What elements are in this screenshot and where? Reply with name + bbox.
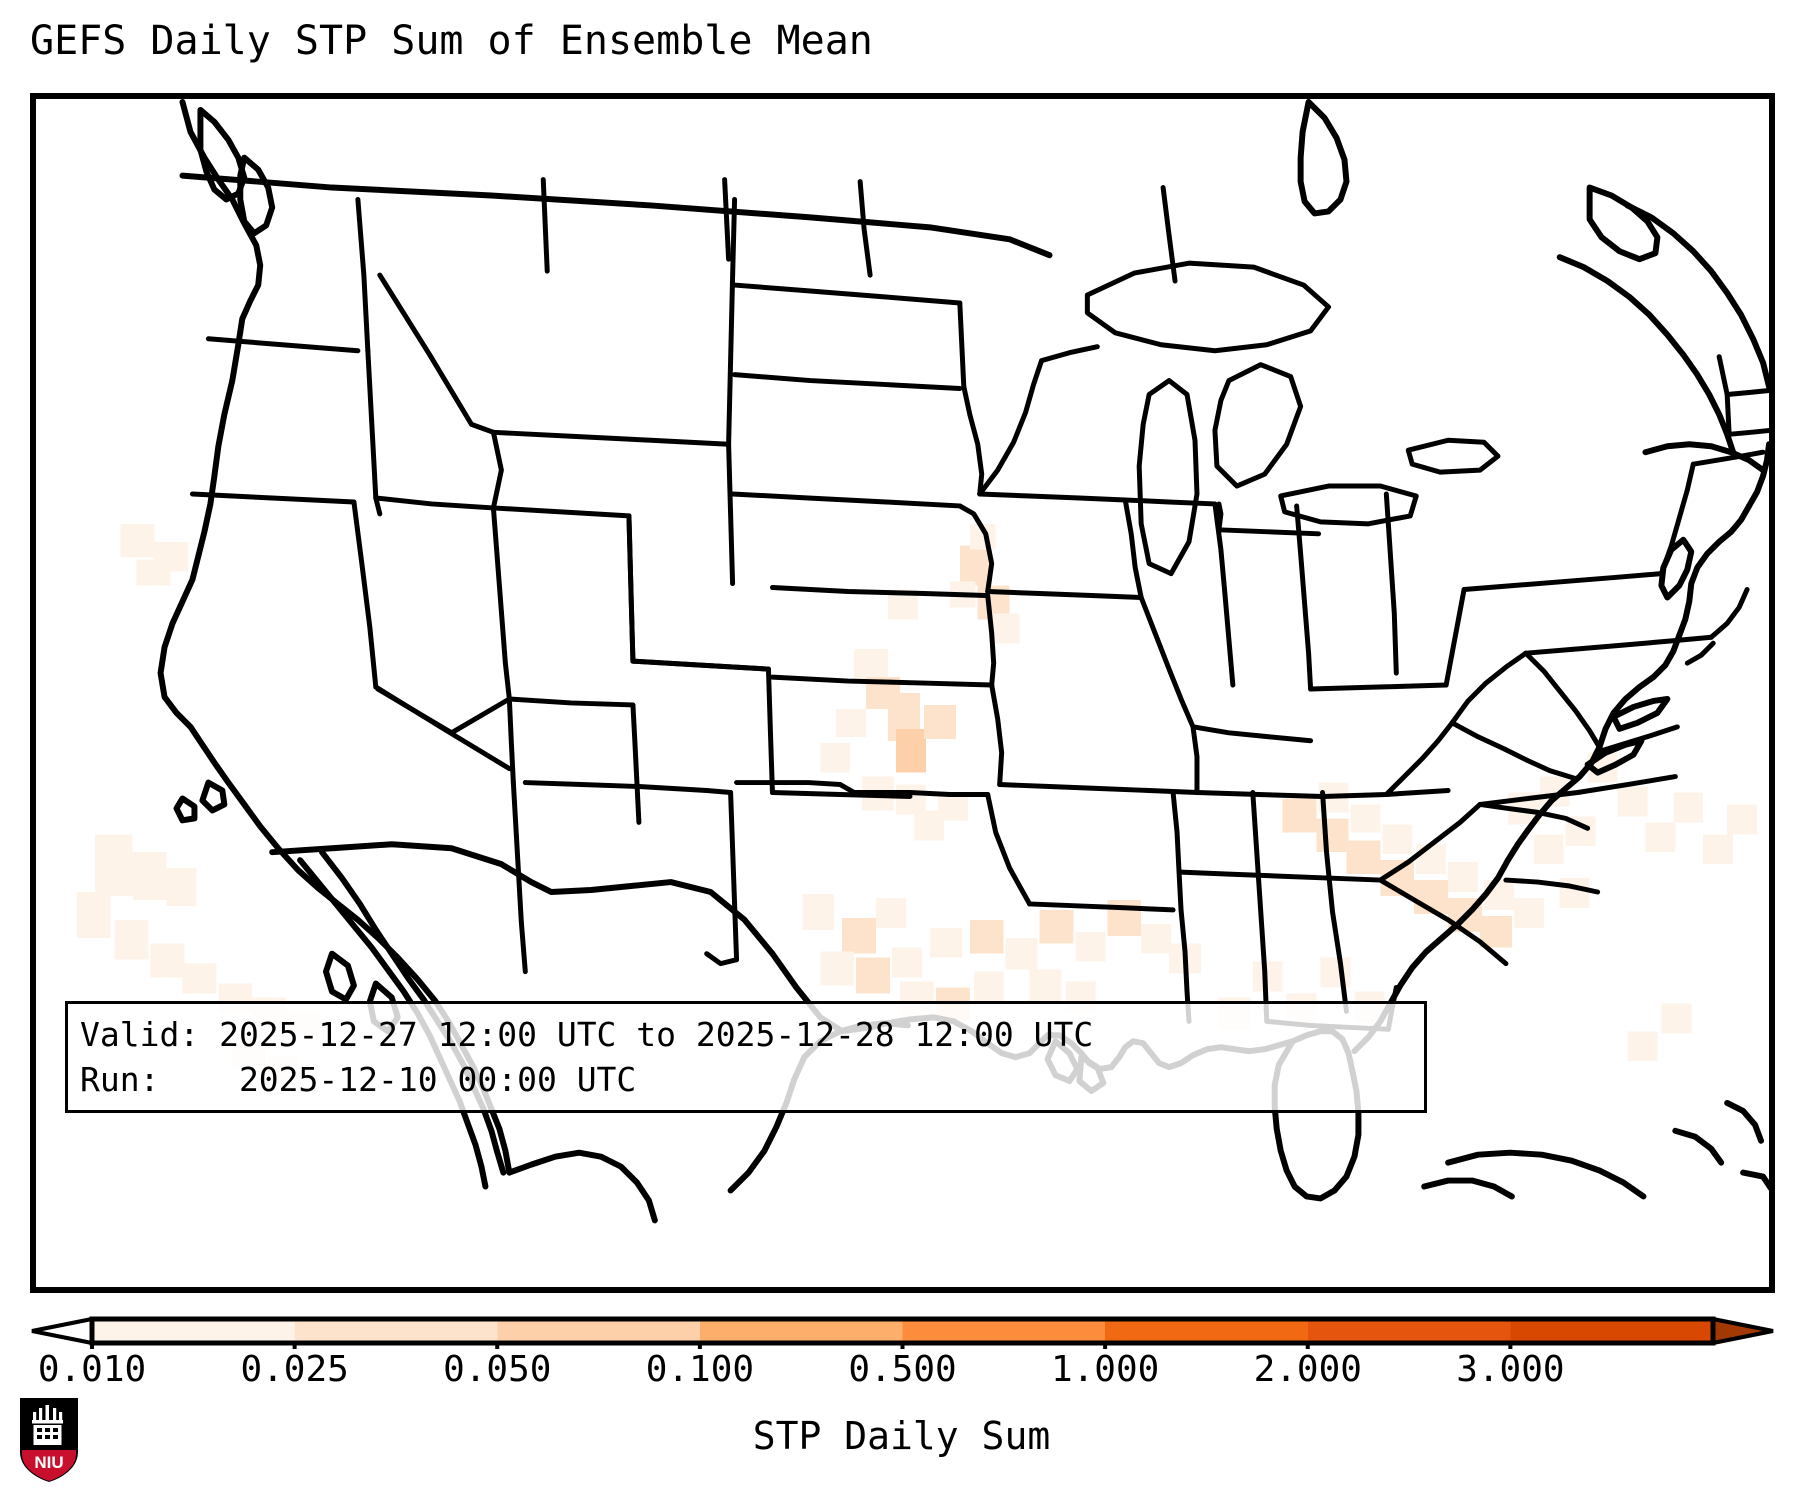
run-time-text: Run: 2025-12-10 00:00 UTC bbox=[80, 1057, 1412, 1102]
colorbar-segment bbox=[1308, 1319, 1511, 1343]
colorbar-tick-label: 0.010 bbox=[38, 1348, 146, 1392]
colorbar-tick-label: 2.000 bbox=[1254, 1348, 1362, 1392]
colorbar-tick-label: 0.050 bbox=[443, 1348, 551, 1392]
colorbar-segment bbox=[1510, 1319, 1713, 1343]
niu-shield-logo: NIU bbox=[18, 1396, 80, 1484]
great-lakes-outline bbox=[1087, 263, 1498, 573]
niu-logo-svg: NIU bbox=[18, 1396, 80, 1484]
valid-period-text: Valid: 2025-12-27 12:00 UTC to 2025-12-2… bbox=[80, 1012, 1412, 1057]
map-panel: Valid: 2025-12-27 12:00 UTC to 2025-12-2… bbox=[30, 93, 1775, 1293]
colorbar-tick-label: 0.100 bbox=[646, 1348, 754, 1392]
colorbar-segment bbox=[903, 1319, 1106, 1343]
colorbar-segment bbox=[1105, 1319, 1308, 1343]
colorbar-segment bbox=[295, 1319, 498, 1343]
colorbar-over-extend bbox=[1713, 1319, 1773, 1343]
page-title: GEFS Daily STP Sum of Ensemble Mean bbox=[30, 18, 873, 64]
colorbar-segment bbox=[497, 1319, 700, 1343]
colorbar-canvas bbox=[30, 1297, 1775, 1349]
colorbar-segment bbox=[700, 1319, 903, 1343]
logo-wordmark: NIU bbox=[34, 1453, 63, 1472]
colorbar-tick-labels: 0.0100.0250.0500.1000.5001.0002.0003.000 bbox=[30, 1348, 1775, 1394]
valid-run-info-box: Valid: 2025-12-27 12:00 UTC to 2025-12-2… bbox=[65, 1001, 1427, 1113]
colorbar-tick-label: 0.500 bbox=[848, 1348, 956, 1392]
colorbar bbox=[30, 1297, 1775, 1349]
colorbar-tick-label: 1.000 bbox=[1051, 1348, 1159, 1392]
colorbar-tick-label: 0.025 bbox=[240, 1348, 348, 1392]
colorbar-segments bbox=[32, 1319, 1773, 1343]
colorbar-axis-label: STP Daily Sum bbox=[0, 1413, 1803, 1459]
colorbar-segment bbox=[92, 1319, 295, 1343]
colorbar-tick-label: 3.000 bbox=[1456, 1348, 1564, 1392]
colorbar-under-extend bbox=[32, 1319, 92, 1343]
figure-root: GEFS Daily STP Sum of Ensemble Mean bbox=[0, 0, 1803, 1500]
national-border bbox=[182, 176, 1049, 1032]
